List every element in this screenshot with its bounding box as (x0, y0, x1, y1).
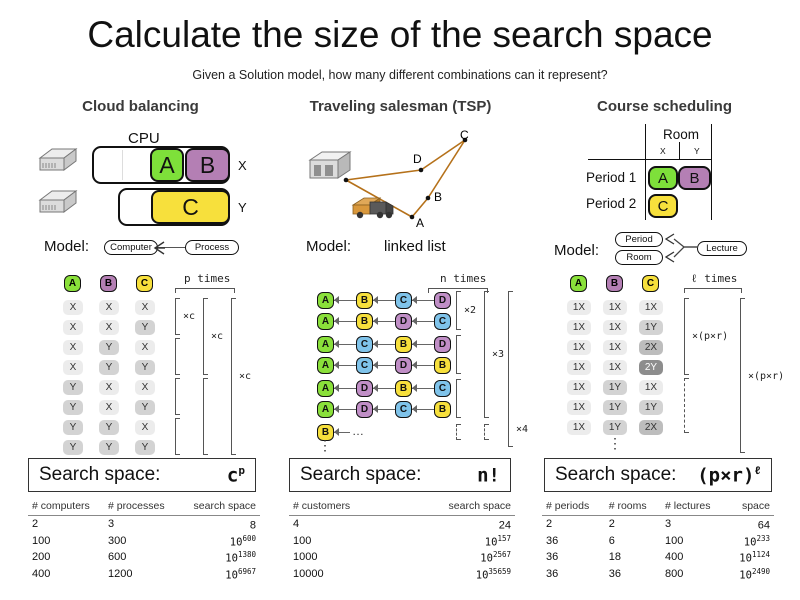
slide-root: Calculate the size of the search space G… (0, 0, 800, 600)
table-row: 36 36 800 102490 (542, 566, 774, 583)
server-icon (38, 188, 78, 218)
table-row: 2 3 8 (28, 516, 260, 533)
tsp-node: A (317, 357, 334, 374)
cell-space: 10233 (727, 533, 774, 550)
cell-space: 102490 (727, 566, 774, 583)
group-bracket (203, 298, 208, 375)
column-header: # rooms (605, 498, 661, 516)
tsp-stop-label-c: C (460, 128, 469, 142)
enum-cell: 1X (603, 360, 627, 375)
process-pill-b[interactable]: B (185, 148, 230, 182)
model-label-cloud: Model: (44, 238, 89, 255)
enum-header-a: A (64, 275, 81, 292)
entity-process[interactable]: Process (185, 240, 239, 255)
cell-computers: 400 (28, 566, 104, 583)
arrow-left-icon (373, 317, 378, 325)
entity-room[interactable]: Room (615, 250, 663, 265)
enum-cell: 1Y (639, 400, 663, 415)
enum-header-a: A (570, 275, 587, 292)
tsp-stop-label-a: A (416, 216, 424, 230)
table-row: 200 600 101380 (28, 549, 260, 566)
group-bracket-dashed (684, 378, 689, 433)
enum-cell: 1Y (603, 400, 627, 415)
column-header: # periods (542, 498, 605, 516)
arrow-left-icon (412, 317, 417, 325)
cell-space: 1035659 (398, 566, 515, 583)
grid-line-v (645, 124, 646, 220)
column-header: # computers (28, 498, 104, 516)
process-pill-a[interactable]: A (150, 148, 184, 182)
group-bracket (175, 338, 180, 375)
group-bracket (175, 418, 180, 455)
enum-cell: 1X (567, 320, 591, 335)
warehouse-icon (306, 148, 354, 184)
group-bracket (740, 298, 745, 453)
multiplier-label: ×(p×r) (748, 371, 784, 382)
multiplier-label: ×2 (464, 305, 476, 316)
times-brace (175, 288, 235, 293)
grid-line-h (588, 159, 712, 160)
enum-cell: Y (63, 440, 83, 455)
enum-header-b: B (100, 275, 117, 292)
enum-cell: Y (135, 400, 155, 415)
column-heading-tsp: Traveling salesman (TSP) (268, 98, 533, 118)
cell-space: 64 (727, 516, 774, 533)
group-bracket (508, 291, 513, 447)
tsp-node: A (317, 401, 334, 418)
arrow-left-icon (334, 405, 339, 413)
enum-cell: X (135, 380, 155, 395)
server-icon (38, 146, 78, 176)
tsp-node: C (434, 313, 451, 330)
cell-space: 24 (398, 516, 515, 533)
group-bracket-dashed (484, 424, 489, 440)
times-label-p: p times (184, 272, 230, 285)
arrow-left-icon (412, 340, 417, 348)
column-header: # lectures (661, 498, 727, 516)
data-table-tsp: # customers search space 4 24 100 10157 … (289, 498, 515, 582)
tsp-node: B (434, 357, 451, 374)
cell-space: 8 (179, 516, 260, 533)
arrow-left-icon (412, 361, 417, 369)
arrow-left-icon (412, 384, 417, 392)
grid-line-v (679, 142, 680, 160)
cell-customers: 4 (289, 516, 398, 533)
search-space-box-course: Search space: (p×r)ℓ (544, 458, 772, 492)
multiplier-label: ×c (239, 371, 251, 382)
arrow-left-icon (373, 296, 378, 304)
column-header: search space (398, 498, 515, 516)
cell-lectures: 100 (661, 533, 727, 550)
enum-cell: X (99, 380, 119, 395)
tsp-node: D (434, 292, 451, 309)
enum-cell: X (99, 300, 119, 315)
times-brace (684, 288, 742, 293)
cpu-tick (122, 150, 123, 180)
tsp-node: D (395, 313, 412, 330)
search-space-box-cloud: Search space: cp (28, 458, 256, 492)
table-row: 36 6 100 10233 (542, 533, 774, 550)
cell-rooms: 36 (605, 566, 661, 583)
times-label-n: n times (440, 272, 486, 285)
column-heading-course: Course scheduling (532, 98, 797, 118)
group-bracket (203, 378, 208, 455)
tsp-node: D (434, 336, 451, 353)
entity-period[interactable]: Period (615, 232, 663, 247)
cell-space: 106967 (179, 566, 260, 583)
multiplier-label: ×c (211, 331, 223, 342)
tsp-node: A (317, 380, 334, 397)
arrow-left-icon (334, 428, 339, 436)
multiplier-label: ×4 (516, 424, 528, 435)
column-header: # customers (289, 498, 398, 516)
column-header: search space (179, 498, 260, 516)
data-table-course: # periods # rooms # lectures space 2 2 3… (542, 498, 774, 582)
entity-lecture[interactable]: Lecture (697, 241, 747, 256)
cell-space: 102567 (398, 549, 515, 566)
tsp-node: C (395, 401, 412, 418)
arrow-left-icon (373, 361, 378, 369)
group-bracket (684, 298, 689, 375)
cell-customers: 1000 (289, 549, 398, 566)
enum-cell: 1X (603, 320, 627, 335)
group-bracket (175, 298, 180, 335)
enum-cell: X (99, 400, 119, 415)
search-space-formula: cp (227, 464, 255, 486)
arrow-left-icon (373, 405, 378, 413)
column-header: # processes (104, 498, 179, 516)
enum-cell: X (63, 340, 83, 355)
tsp-stop-label-b: B (434, 190, 442, 204)
enum-cell: 1X (567, 380, 591, 395)
tsp-node: C (356, 357, 373, 374)
relation-lines (662, 230, 702, 264)
tsp-node: C (356, 336, 373, 353)
cpu-axis-label: CPU (128, 130, 160, 147)
period-label-2: Period 2 (586, 196, 636, 211)
machine-label-y: Y (238, 200, 247, 215)
enum-cell: 1Y (603, 420, 627, 435)
table-header-row: # computers # processes search space (28, 498, 260, 516)
enum-cell: Y (99, 440, 119, 455)
cell-processes: 1200 (104, 566, 179, 583)
cell-rooms: 2 (605, 516, 661, 533)
enum-cell: 1X (639, 380, 663, 395)
column-heading-cloud-balancing: Cloud balancing (8, 98, 273, 118)
search-space-label: Search space: (545, 464, 676, 486)
tsp-node: A (317, 313, 334, 330)
search-space-formula: (p×r)ℓ (697, 464, 771, 486)
enum-cell: 1X (567, 360, 591, 375)
enum-cell: 2X (639, 420, 663, 435)
tsp-ellipsis: … (352, 424, 364, 438)
cell-periods: 36 (542, 549, 605, 566)
table-row: 1000 102567 (289, 549, 515, 566)
truck-icon (350, 193, 398, 223)
column-cloud-balancing: Cloud balancing (8, 98, 273, 118)
multiplier-label: ×c (183, 311, 195, 322)
tsp-node: B (434, 401, 451, 418)
cell-periods: 36 (542, 533, 605, 550)
table-row: 100 10157 (289, 533, 515, 550)
room-col-y: Y (694, 146, 700, 156)
enum-cell: 1X (567, 340, 591, 355)
enum-cell: 1X (603, 300, 627, 315)
enum-cell: 2Y (639, 360, 663, 375)
arrow-left-icon (334, 384, 339, 392)
arrow-left-icon (334, 296, 339, 304)
enum-cell: 1X (567, 420, 591, 435)
times-label-l: ℓ times (691, 272, 737, 286)
table-row: 4 24 (289, 516, 515, 533)
group-bracket (456, 291, 461, 330)
enum-cell: Y (63, 420, 83, 435)
enum-cell: 2X (639, 340, 663, 355)
tsp-stop-label-d: D (413, 152, 422, 166)
cell-lectures: 800 (661, 566, 727, 583)
crows-foot-icon (152, 240, 166, 256)
enum-cell: Y (135, 360, 155, 375)
group-bracket-dashed (456, 424, 461, 440)
table-row: 100 300 10600 (28, 533, 260, 550)
enum-header-c: C (642, 275, 659, 292)
enum-cell: X (135, 300, 155, 315)
group-bracket (175, 378, 180, 415)
tsp-node: C (395, 292, 412, 309)
arrow-left-icon (334, 361, 339, 369)
column-header: space (727, 498, 774, 516)
enum-cell: X (63, 320, 83, 335)
column-course-scheduling: Course scheduling (532, 98, 797, 118)
model-label-course: Model: (554, 242, 599, 259)
enum-header-c: C (136, 275, 153, 292)
process-pill-c[interactable]: C (151, 190, 230, 224)
arrow-left-icon (373, 340, 378, 348)
tsp-node: B (356, 292, 373, 309)
cell-lectures: 400 (661, 549, 727, 566)
cell-computers: 100 (28, 533, 104, 550)
cell-rooms: 6 (605, 533, 661, 550)
arrow-left-icon (334, 340, 339, 348)
enum-cell: X (135, 420, 155, 435)
cell-periods: 2 (542, 516, 605, 533)
enum-cell: X (99, 320, 119, 335)
cell-periods: 36 (542, 566, 605, 583)
enum-cell: X (63, 360, 83, 375)
cell-customers: 100 (289, 533, 398, 550)
enum-cell: Y (135, 320, 155, 335)
enum-cell: 1X (567, 300, 591, 315)
cell-space: 101380 (179, 549, 260, 566)
enum-cell: 1Y (603, 380, 627, 395)
cell-space: 101124 (727, 549, 774, 566)
search-space-label: Search space: (290, 464, 421, 486)
cell-rooms: 18 (605, 549, 661, 566)
arrow-left-icon (334, 317, 339, 325)
model-value-tsp: linked list (384, 238, 446, 255)
multiplier-label: ×(p×r) (692, 331, 728, 342)
model-label-tsp: Model: (306, 238, 351, 255)
search-space-box-tsp: Search space: n! (289, 458, 511, 492)
cell-processes: 300 (104, 533, 179, 550)
tsp-node: B (395, 380, 412, 397)
table-row: 400 1200 106967 (28, 566, 260, 583)
enum-cell: Y (135, 440, 155, 455)
machine-label-x: X (238, 158, 247, 173)
group-bracket (456, 379, 461, 418)
enum-cell: 1X (639, 300, 663, 315)
enum-cell: Y (63, 380, 83, 395)
group-bracket (484, 291, 489, 418)
enum-cell: 1X (567, 400, 591, 415)
tsp-node: A (317, 292, 334, 309)
enum-header-b: B (606, 275, 623, 292)
page-subtitle: Given a Solution model, how many differe… (0, 68, 800, 82)
cell-customers: 10000 (289, 566, 398, 583)
multiplier-label: ×3 (492, 349, 504, 360)
table-row: 10000 1035659 (289, 566, 515, 583)
table-row: 36 18 400 101124 (542, 549, 774, 566)
page-title: Calculate the size of the search space (0, 14, 800, 56)
cell-computers: 2 (28, 516, 104, 533)
tsp-node: A (317, 336, 334, 353)
lecture-pill-b[interactable]: B (678, 166, 711, 190)
enum-cell: 1X (603, 340, 627, 355)
table-header-row: # customers search space (289, 498, 515, 516)
data-table-cloud: # computers # processes search space 2 3… (28, 498, 260, 582)
cell-lectures: 3 (661, 516, 727, 533)
room-label: Room (663, 127, 699, 142)
search-space-label: Search space: (29, 464, 160, 486)
tsp-node: B (356, 313, 373, 330)
cell-processes: 3 (104, 516, 179, 533)
tsp-node: C (434, 380, 451, 397)
cell-space: 10600 (179, 533, 260, 550)
cell-computers: 200 (28, 549, 104, 566)
enum-cell: Y (99, 420, 119, 435)
enum-cell: Y (99, 340, 119, 355)
cell-space: 10157 (398, 533, 515, 550)
enum-cell: X (135, 340, 155, 355)
tsp-node: D (395, 357, 412, 374)
arrow-left-icon (412, 296, 417, 304)
enum-cell: Y (99, 360, 119, 375)
entity-computer[interactable]: Computer (104, 240, 158, 255)
group-bracket (456, 335, 461, 374)
group-bracket (231, 298, 236, 455)
column-traveling-salesman: Traveling salesman (TSP) (268, 98, 533, 118)
enum-cell: 1Y (639, 320, 663, 335)
table-header-row: # periods # rooms # lectures space (542, 498, 774, 516)
arrow-left-icon (412, 405, 417, 413)
grid-line-v (711, 124, 712, 220)
tsp-node: B (395, 336, 412, 353)
enum-cell: X (63, 300, 83, 315)
tsp-node: D (356, 401, 373, 418)
lecture-pill-a[interactable]: A (648, 166, 678, 190)
table-row: 2 2 3 64 (542, 516, 774, 533)
vertical-ellipsis-icon: ⋮ (316, 442, 334, 448)
cell-processes: 600 (104, 549, 179, 566)
tsp-node: D (356, 380, 373, 397)
room-col-x: X (660, 146, 666, 156)
lecture-pill-c[interactable]: C (648, 194, 678, 218)
search-space-formula: n! (477, 464, 510, 486)
arrow-left-icon (373, 384, 378, 392)
vertical-ellipsis-icon: ⋮ (603, 440, 627, 446)
enum-cell: Y (63, 400, 83, 415)
period-label-1: Period 1 (586, 170, 636, 185)
